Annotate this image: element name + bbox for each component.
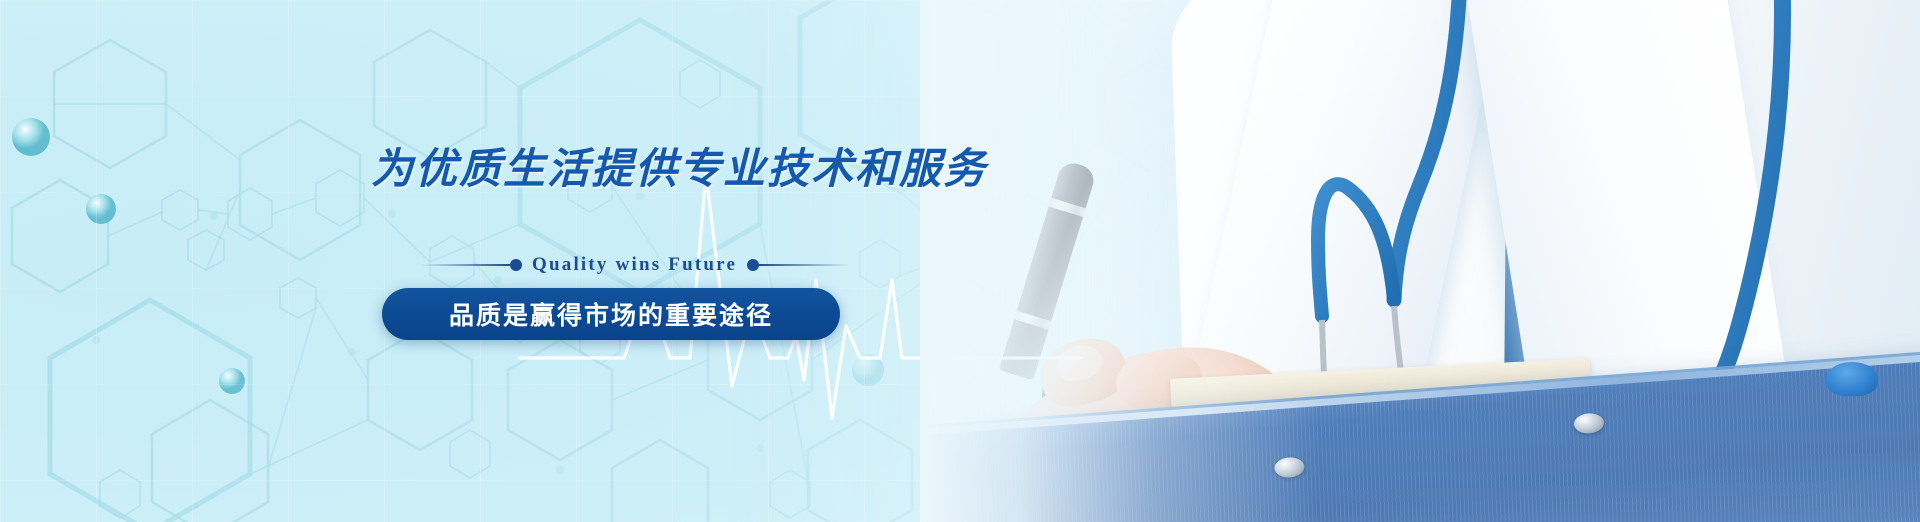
cta-label: 品质是赢得市场的重要途径 bbox=[449, 296, 773, 332]
page-title: 为优质生活提供专业技术和服务 bbox=[371, 148, 987, 190]
subtitle-english: Quality wins Future bbox=[522, 254, 747, 276]
dot-left-icon bbox=[510, 259, 522, 271]
rule-right bbox=[759, 264, 849, 266]
banner-content: 为优质生活提供专业技术和服务 Quality wins Future 品质是赢得… bbox=[0, 0, 1100, 522]
rule-left bbox=[420, 264, 510, 266]
dot-right-icon bbox=[747, 259, 759, 271]
subtitle-row: Quality wins Future bbox=[420, 254, 820, 276]
cta-button[interactable]: 品质是赢得市场的重要途径 bbox=[382, 288, 840, 340]
hero-banner: 为优质生活提供专业技术和服务 Quality wins Future 品质是赢得… bbox=[0, 0, 1920, 522]
